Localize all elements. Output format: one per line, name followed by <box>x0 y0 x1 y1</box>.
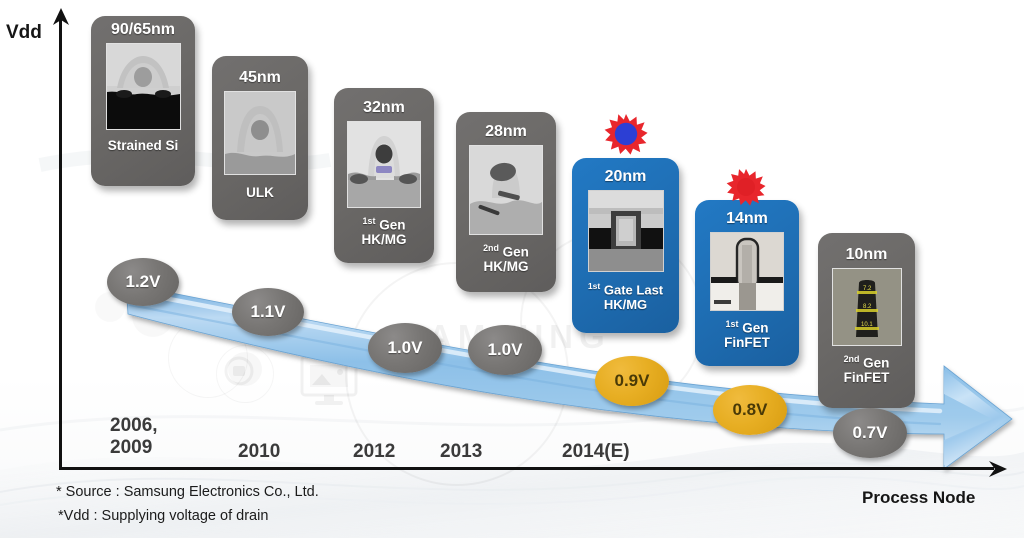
device-icon-watermark <box>216 348 262 394</box>
voltage-bubble-0-7v[interactable]: 0.7V <box>833 408 907 458</box>
node-card-10nm[interactable]: 10nm 7.2 8.2 10.1 2nd Gen FinFET <box>818 233 915 408</box>
node-card-caption-line1: ULK <box>246 185 274 200</box>
node-card-32nm[interactable]: 32nm 1st Gen HK/MG <box>334 88 434 263</box>
node-card-title: 90/65nm <box>111 22 175 39</box>
node-card-caption: ULK <box>243 185 277 200</box>
node-card-title: 10nm <box>846 247 888 264</box>
node-card-caption-line1: 1st Gate Last <box>588 282 663 298</box>
node-card-90-65nm[interactable]: 90/65nm Strained Si <box>91 16 195 186</box>
voltage-bubble-1-2v[interactable]: 1.2V <box>107 258 179 306</box>
node-card-caption-sup: 2nd <box>483 243 499 253</box>
year-tick-2: 2012 <box>353 441 395 463</box>
node-card-caption-line1: 1st Gen <box>362 217 407 233</box>
x-axis-label: Process Node <box>862 488 975 508</box>
y-axis-line <box>59 20 62 470</box>
ring-watermark-small-e <box>228 352 262 386</box>
svg-text:8.2: 8.2 <box>863 304 872 310</box>
year-tick-0: 2006, 2009 <box>110 415 158 459</box>
node-card-caption: 1st Gen HK/MG <box>359 217 410 248</box>
node-card-caption: Strained Si <box>105 138 182 153</box>
node-card-title: 28nm <box>485 124 527 141</box>
node-card-caption-line1: Strained Si <box>108 138 179 153</box>
year-tick-4: 2014(E) <box>562 441 630 463</box>
voltage-bubble-0-9v[interactable]: 0.9V <box>595 356 669 406</box>
node-card-caption-line2: HK/MG <box>588 298 663 313</box>
node-card-title: 20nm <box>605 169 647 186</box>
node-card-14nm[interactable]: 14nm 1st Gen FinFET <box>695 200 799 366</box>
node-card-caption: 1st Gate Last HK/MG <box>585 282 666 312</box>
node-card-caption-line1: 2nd Gen <box>844 355 890 371</box>
monitor-icon-watermark <box>300 355 358 407</box>
starburst-blue-red-icon <box>604 113 648 155</box>
node-card-caption: 2nd Gen HK/MG <box>480 244 532 275</box>
ring-watermark-small-b <box>216 345 274 403</box>
node-card-micrograph <box>347 121 421 208</box>
voltage-bubble-0-8v[interactable]: 0.8V <box>713 385 787 435</box>
ring-watermark-small-a <box>168 318 248 398</box>
node-card-micrograph <box>106 43 181 130</box>
year-tick-1: 2010 <box>238 441 280 463</box>
y-axis-label: Vdd <box>6 22 42 44</box>
node-card-caption-line1: 1st Gen <box>724 320 770 336</box>
voltage-bubble-1-0v-a[interactable]: 1.0V <box>368 323 442 373</box>
year-tick-0-line1: 2006, <box>110 415 158 437</box>
node-card-caption-sup: 1st <box>726 319 739 329</box>
node-card-caption: 1st Gen FinFET <box>721 320 773 351</box>
node-card-20nm[interactable]: 20nm 1st Gate Last HK/MG <box>572 158 679 333</box>
node-card-caption-sup: 1st <box>588 281 600 291</box>
node-card-micrograph <box>469 145 543 235</box>
node-card-title: 14nm <box>726 211 768 228</box>
node-card-title: 45nm <box>239 70 281 87</box>
node-card-caption-sup: 1st <box>363 216 376 226</box>
x-axis-line <box>59 467 994 470</box>
node-card-caption: 2nd Gen FinFET <box>841 355 893 386</box>
node-card-45nm[interactable]: 45nm ULK <box>212 56 308 220</box>
year-tick-0-line2: 2009 <box>110 437 158 459</box>
node-card-micrograph <box>588 190 664 272</box>
voltage-bubble-1-0v-b[interactable]: 1.0V <box>468 325 542 375</box>
voltage-bubble-1-1v[interactable]: 1.1V <box>232 288 304 336</box>
year-tick-3: 2013 <box>440 441 482 463</box>
node-card-caption-sup: 2nd <box>844 354 860 364</box>
node-card-caption-line2: FinFET <box>724 335 770 350</box>
slide-canvas: SAMSUNG <box>0 0 1024 538</box>
node-card-caption-line2: HK/MG <box>483 259 529 274</box>
node-card-28nm[interactable]: 28nm 2nd Gen HK/MG <box>456 112 556 292</box>
footnote-source: * Source : Samsung Electronics Co., Ltd. <box>56 484 319 500</box>
node-card-micrograph <box>710 232 784 311</box>
node-card-caption-line1: 2nd Gen <box>483 244 529 260</box>
node-card-caption-line2: FinFET <box>844 370 890 385</box>
svg-text:7.2: 7.2 <box>863 286 872 292</box>
node-card-micrograph: 7.2 8.2 10.1 <box>832 268 902 346</box>
node-card-micrograph <box>224 91 296 175</box>
svg-text:10.1: 10.1 <box>861 322 873 328</box>
node-card-caption-line2: HK/MG <box>362 232 407 247</box>
starburst-red-icon <box>726 168 766 206</box>
node-card-title: 32nm <box>363 100 405 117</box>
footnote-vdd: *Vdd : Supplying voltage of drain <box>58 508 268 524</box>
